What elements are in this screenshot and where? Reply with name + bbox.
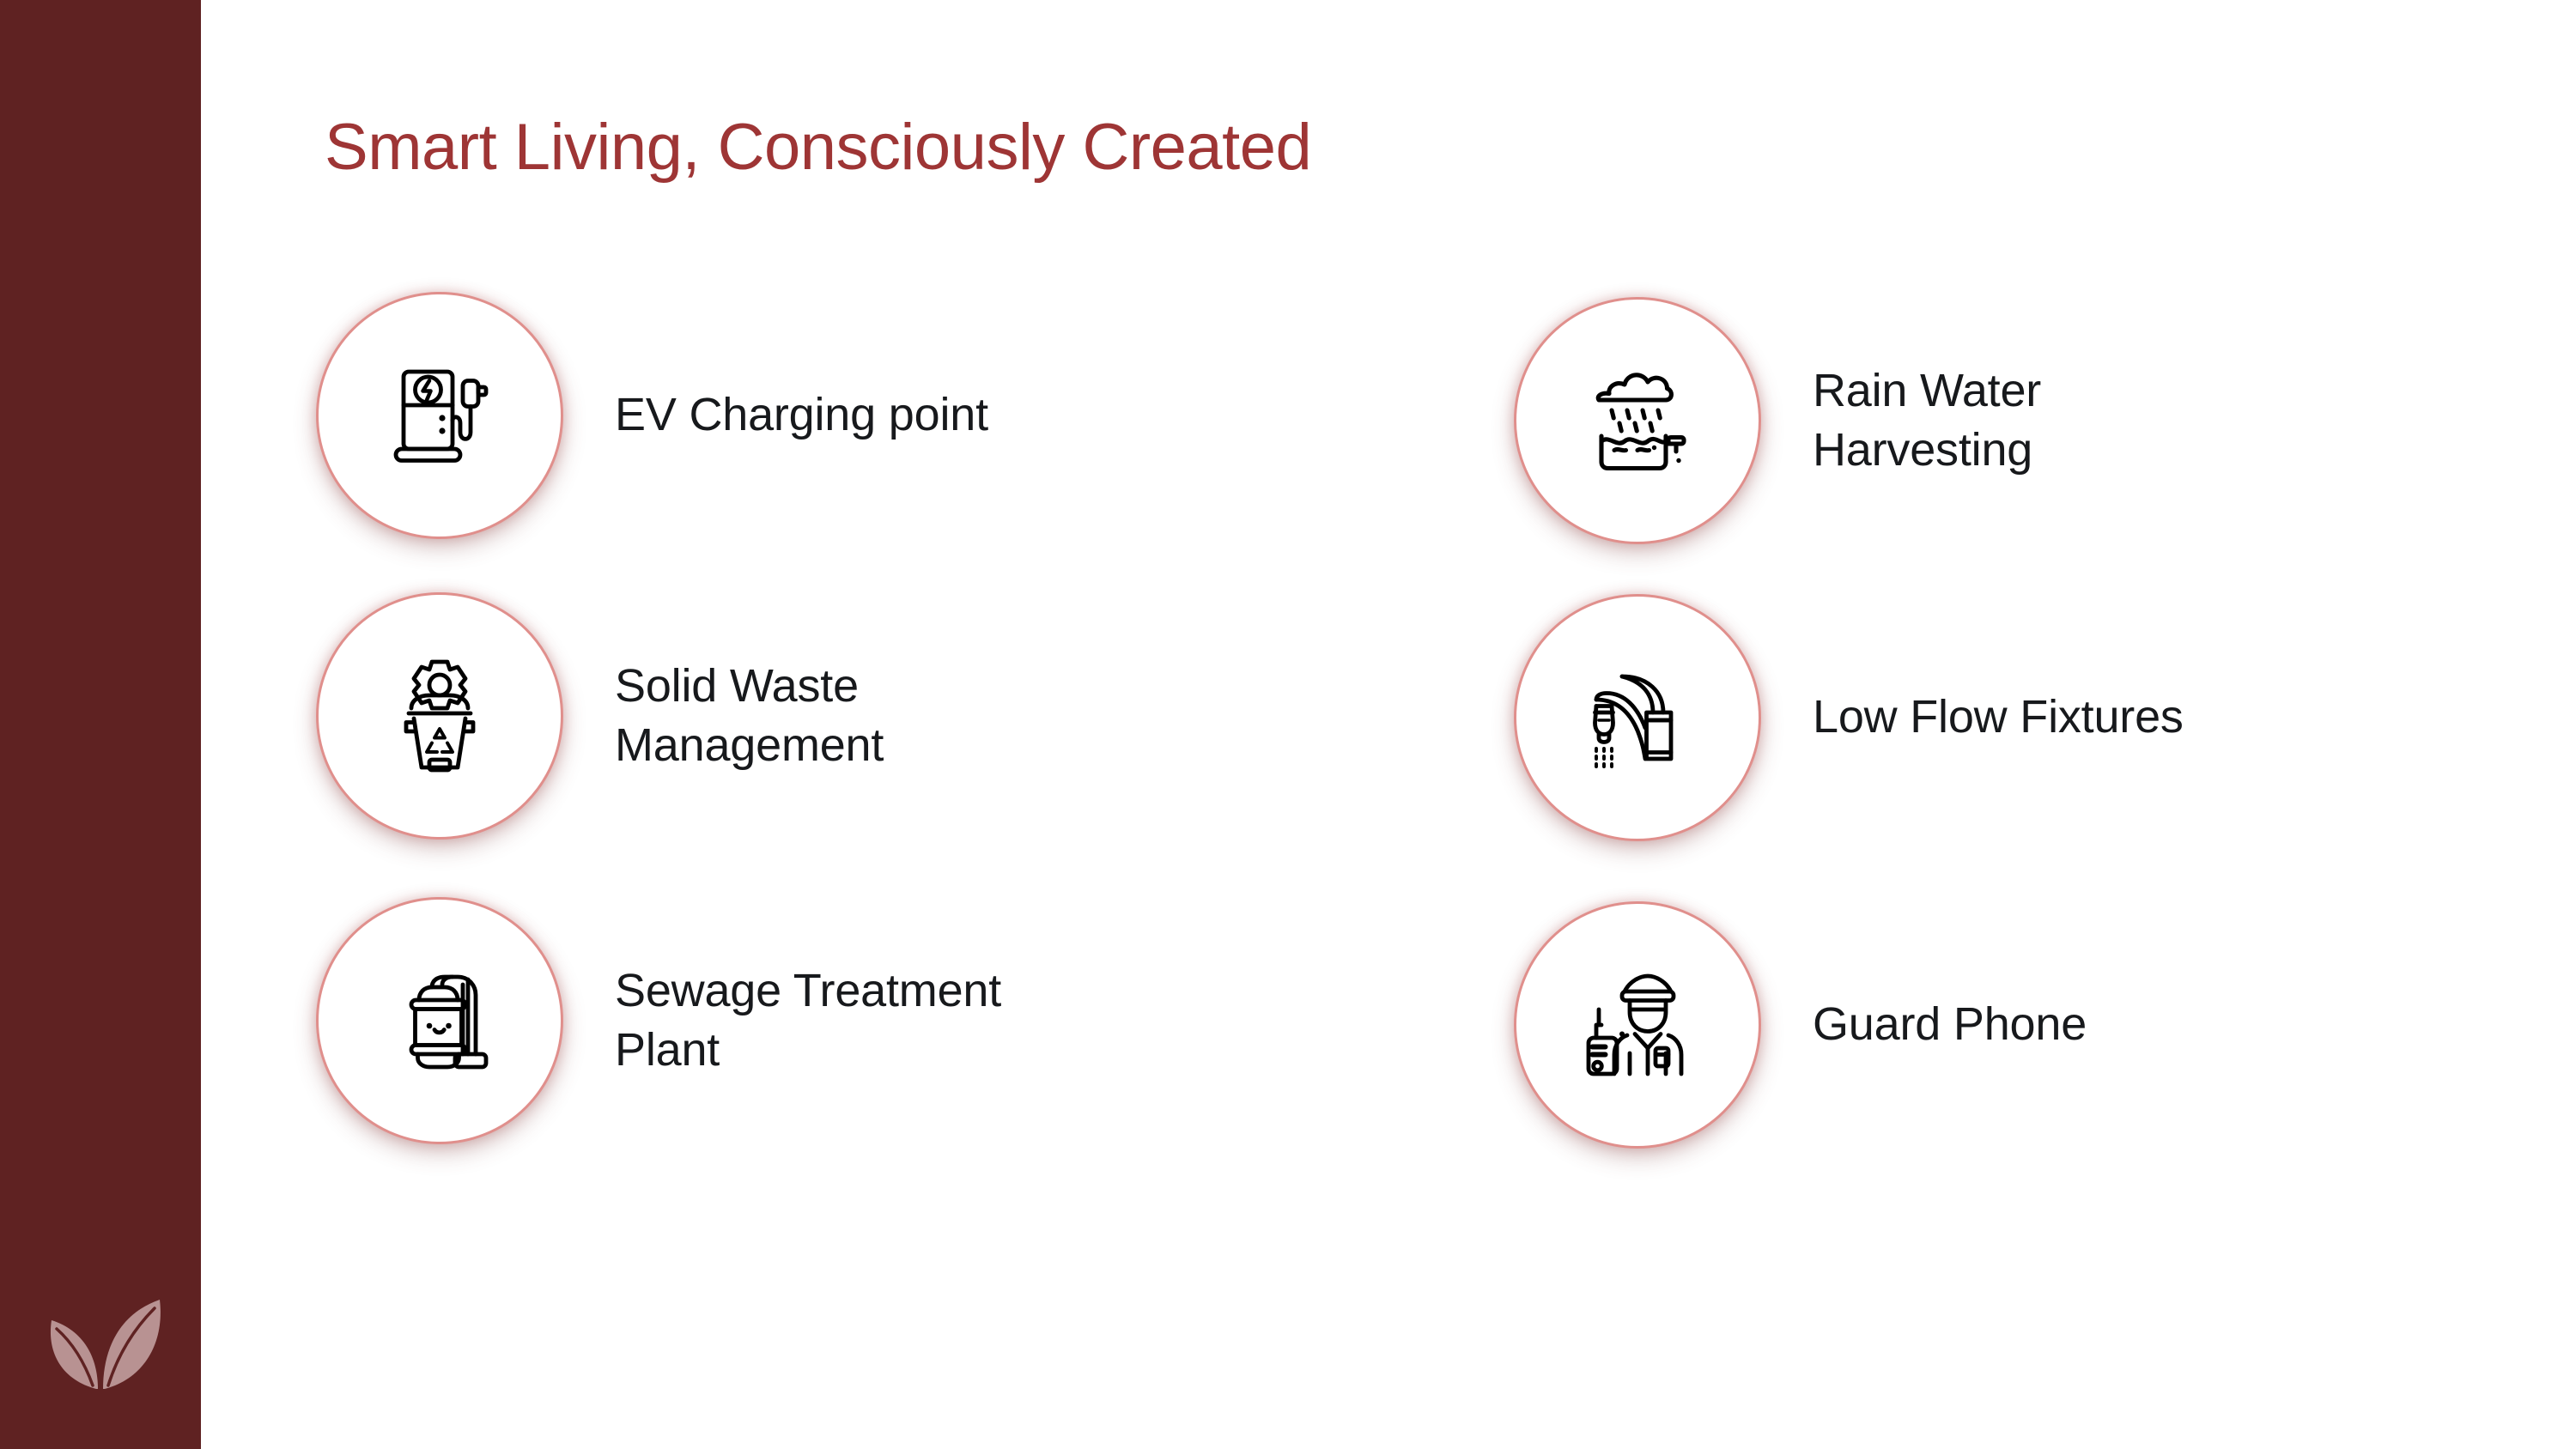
feature-item-guard-phone[interactable]: Guard Phone <box>1514 901 2087 1149</box>
security-guard-walkie-talkie-icon <box>1514 901 1761 1149</box>
feature-item-rain-water-harvesting[interactable]: Rain Water Harvesting <box>1514 297 2259 544</box>
feature-item-solid-waste-management[interactable]: Solid Waste Management <box>316 592 1061 840</box>
faucet-water-drip-icon <box>1514 594 1761 841</box>
sewage-treatment-plant-icon <box>316 897 563 1144</box>
feature-label: Rain Water Harvesting <box>1813 361 2259 480</box>
ev-charging-station-icon <box>316 292 563 539</box>
feature-label: EV Charging point <box>615 385 988 445</box>
rain-water-tank-icon <box>1514 297 1761 544</box>
recycling-bin-gear-icon <box>316 592 563 840</box>
feature-item-ev-charging[interactable]: EV Charging point <box>316 292 988 539</box>
two-leaf-logo <box>36 1293 165 1396</box>
feature-item-low-flow-fixtures[interactable]: Low Flow Fixtures <box>1514 594 2184 841</box>
feature-label: Solid Waste Management <box>615 657 1061 775</box>
feature-label: Guard Phone <box>1813 995 2087 1054</box>
page-title: Smart Living, Consciously Created <box>325 110 1311 185</box>
feature-item-sewage-treatment-plant[interactable]: Sewage Treatment Plant <box>316 897 1061 1144</box>
feature-label: Sewage Treatment Plant <box>615 961 1061 1080</box>
feature-label: Low Flow Fixtures <box>1813 688 2184 747</box>
left-accent-sidebar <box>0 0 201 1449</box>
